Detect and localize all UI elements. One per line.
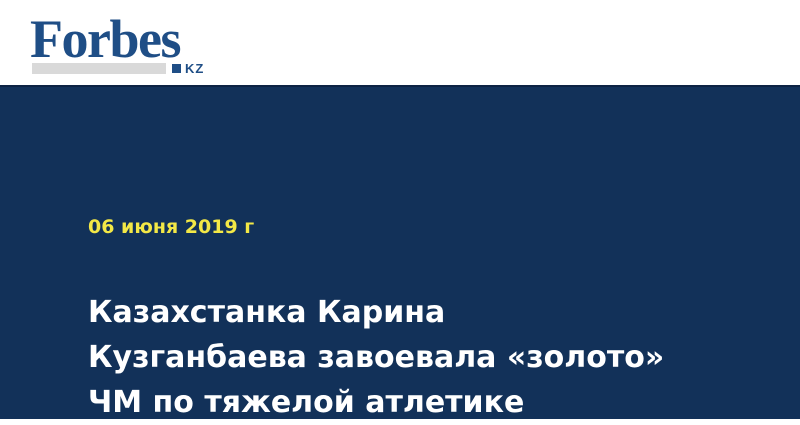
logo-underrow: KZ bbox=[32, 62, 228, 75]
forbes-kz-logo[interactable]: Forbes KZ bbox=[30, 12, 230, 76]
article-headline: Казахстанка Карина Кузганбаева завоевала… bbox=[88, 290, 748, 425]
hero-panel: 06 июня 2019 г Казахстанка Карина Кузган… bbox=[0, 87, 800, 419]
forbes-wordmark: Forbes bbox=[30, 12, 180, 66]
headline-line-1: Казахстанка Карина bbox=[88, 290, 748, 335]
navy-square-icon bbox=[172, 64, 181, 73]
site-header: Forbes KZ bbox=[0, 0, 800, 86]
headline-line-2: Кузганбаева завоевала «золото» bbox=[88, 335, 748, 380]
article-card: Forbes KZ 06 июня 2019 г Казахстанка Кар… bbox=[0, 0, 800, 419]
publish-date: 06 июня 2019 г bbox=[88, 216, 254, 238]
gray-bar-icon bbox=[32, 63, 166, 74]
headline-line-3: ЧМ по тяжелой атлетике bbox=[88, 380, 748, 425]
logo-country-code: KZ bbox=[185, 62, 204, 75]
